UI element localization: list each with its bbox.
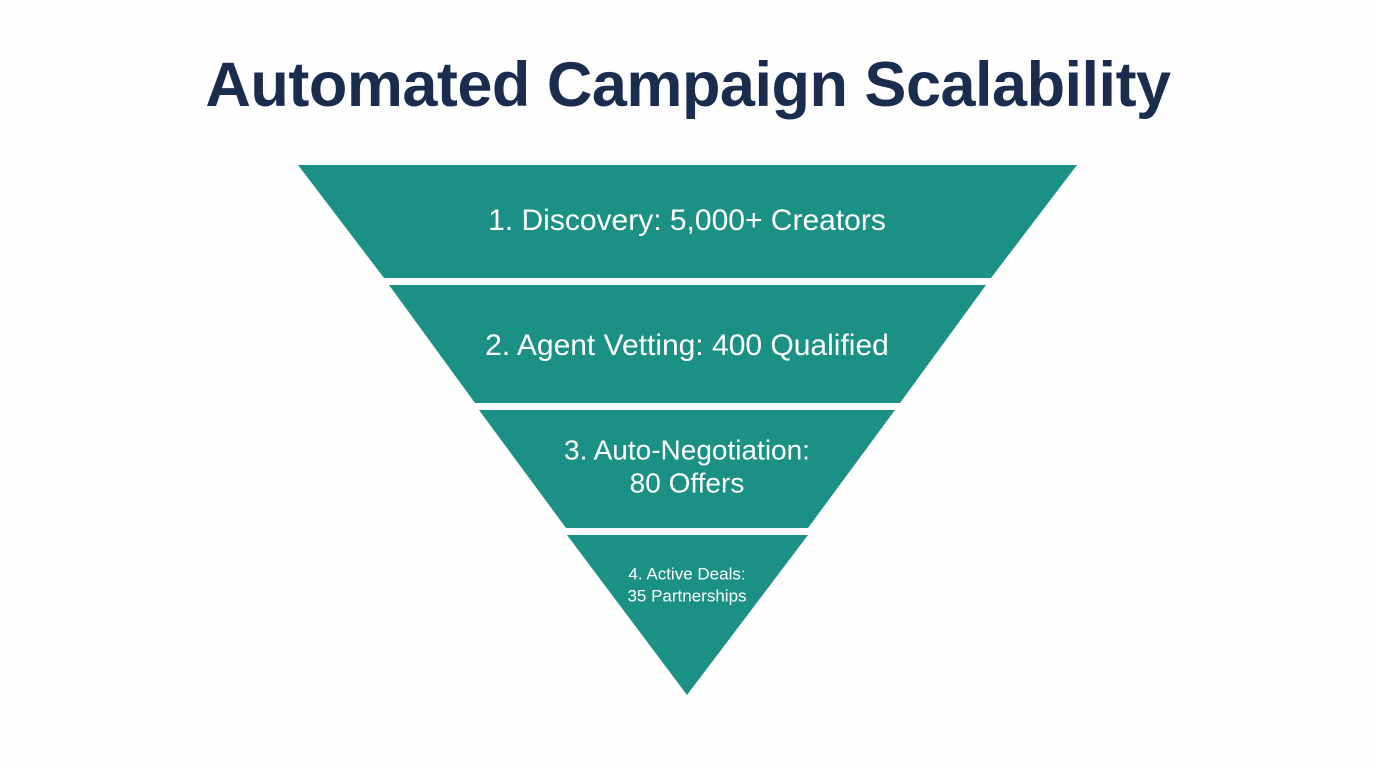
funnel-segment-4-label-line1: 4. Active Deals:: [628, 564, 745, 583]
funnel-segment-4-label-line2: 35 Partnerships: [627, 586, 746, 605]
funnel-segment-1[interactable]: 1. Discovery: 5,000+ Creators: [298, 165, 1077, 278]
funnel-segment-3[interactable]: 3. Auto-Negotiation: 80 Offers: [479, 410, 895, 528]
funnel-segment-2-label: 2. Agent Vetting: 400 Qualified: [485, 329, 889, 362]
funnel-segment-4-shape: [567, 535, 808, 695]
funnel-segment-1-label: 1. Discovery: 5,000+ Creators: [488, 204, 886, 237]
funnel-segment-3-label-line2: 80 Offers: [630, 467, 745, 498]
funnel-svg: 1. Discovery: 5,000+ Creators 2. Agent V…: [0, 0, 1376, 768]
funnel-segment-2[interactable]: 2. Agent Vetting: 400 Qualified: [389, 285, 986, 403]
funnel-segment-3-label-line1: 3. Auto-Negotiation:: [564, 434, 810, 465]
funnel-chart: 1. Discovery: 5,000+ Creators 2. Agent V…: [0, 0, 1376, 768]
slide-canvas: Automated Campaign Scalability 1. Discov…: [0, 0, 1376, 768]
funnel-segment-4[interactable]: 4. Active Deals: 35 Partnerships: [567, 535, 808, 695]
